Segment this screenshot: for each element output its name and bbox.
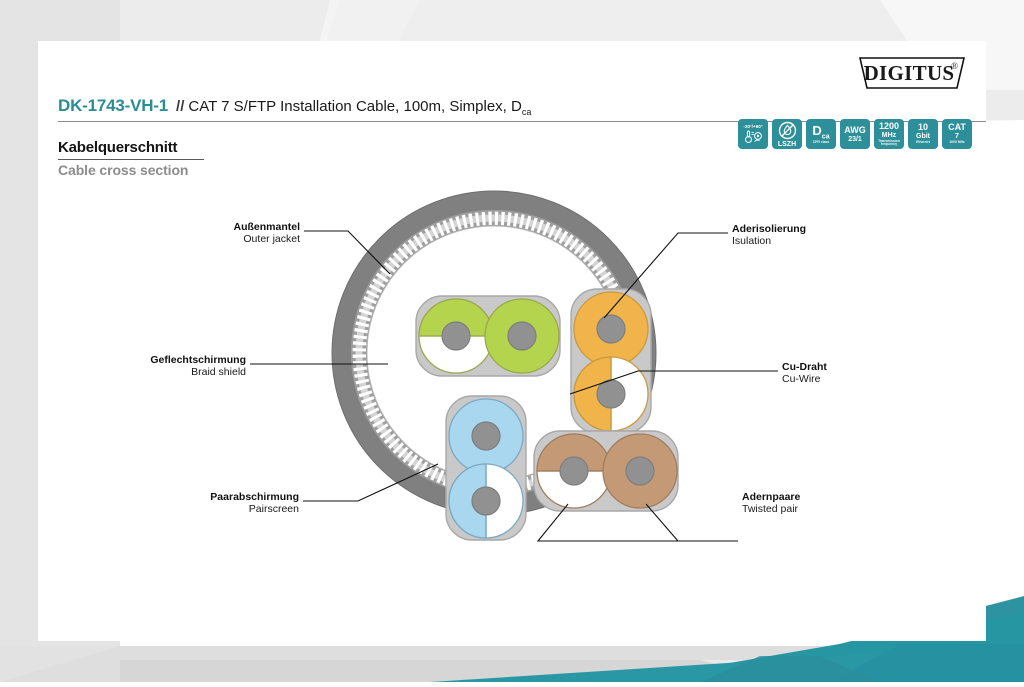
datasheet-page: DIGITUS ® DK-1743-VH-1//CAT 7 S/FTP Inst… [38, 41, 986, 641]
brown-solid-cu-core [626, 457, 654, 485]
callout-outer-jacket-de: Außenmantel [100, 221, 300, 233]
green-solid-conductor [485, 299, 559, 373]
green-pair [416, 296, 560, 376]
orange-striped-conductor [574, 357, 648, 431]
callout-twisted-pair-en: Twisted pair [742, 503, 942, 515]
green-striped-conductor [419, 299, 493, 373]
callout-pairscreen: Paarabschirmung Pairscreen [103, 491, 299, 516]
callout-twisted-pair: Adernpaare Twisted pair [742, 491, 942, 516]
callout-twisted-pair-de: Adernpaare [742, 491, 942, 503]
callout-outer-jacket: Außenmantel Outer jacket [100, 221, 300, 246]
green-solid-cu-core [508, 322, 536, 350]
brown-striped-cu-core [560, 457, 588, 485]
callout-pairscreen-de: Paarabschirmung [103, 491, 299, 503]
callout-pairscreen-en: Pairscreen [103, 503, 299, 515]
blue-pair [446, 396, 526, 540]
blue-striped-cu-core [472, 487, 500, 515]
brown-solid-conductor [603, 434, 677, 508]
blue-solid-cu-core [472, 422, 500, 450]
brown-striped-conductor [537, 434, 611, 508]
callout-braid-shield-de: Geflechtschirmung [58, 354, 246, 366]
callout-cu-wire-de: Cu-Draht [782, 361, 972, 373]
callout-cu-wire-en: Cu-Wire [782, 373, 972, 385]
callout-insulation-de: Aderisolierung [732, 223, 942, 235]
callout-outer-jacket-en: Outer jacket [100, 233, 300, 245]
cable-diagram-svg [38, 41, 986, 641]
cable-cross-section-diagram: Außenmantel Outer jacket Geflechtschirmu… [38, 41, 986, 641]
callout-insulation-en: Isulation [732, 235, 942, 247]
brown-pair [534, 431, 678, 511]
callout-cu-wire: Cu-Draht Cu-Wire [782, 361, 972, 386]
orange-striped-cu-core [597, 380, 625, 408]
orange-solid-conductor [574, 292, 648, 366]
callout-braid-shield-en: Braid shield [58, 366, 246, 378]
blue-striped-conductor [449, 464, 523, 538]
callout-insulation: Aderisolierung Isulation [732, 223, 942, 248]
callout-braid-shield: Geflechtschirmung Braid shield [58, 354, 246, 379]
blue-solid-conductor [449, 399, 523, 473]
orange-solid-cu-core [597, 315, 625, 343]
green-striped-cu-core [442, 322, 470, 350]
